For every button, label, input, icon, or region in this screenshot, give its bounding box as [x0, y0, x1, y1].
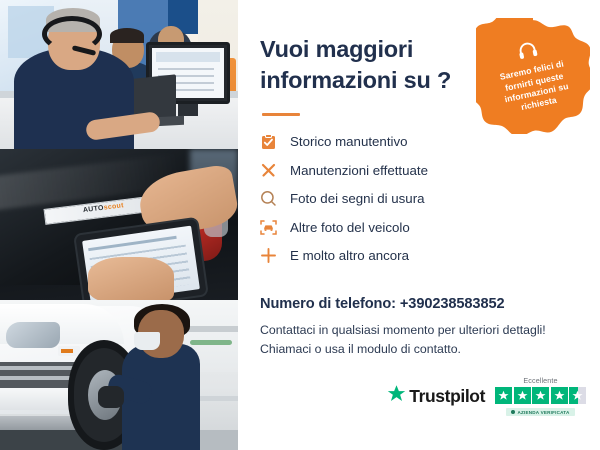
- list-item: Foto dei segni di usura: [260, 185, 576, 214]
- trustpilot-logo: Trustpilot: [387, 384, 485, 408]
- verified-check-icon: [511, 410, 515, 414]
- clipboard-check-icon: [260, 133, 277, 150]
- trustpilot-widget[interactable]: Trustpilot Eccellente AZIENDA VERIFICATA: [387, 376, 586, 416]
- feature-list: Storico manutentivo Manutenzioni effettu…: [260, 128, 576, 271]
- subtext-line-2: Chiamaci o usa il modulo di contatto.: [260, 340, 576, 359]
- trustpilot-star-icon: [387, 384, 406, 408]
- star-rating: [495, 387, 586, 404]
- call-center-photo: [0, 0, 238, 149]
- star-4: [551, 387, 568, 404]
- workshop-photo: [0, 300, 238, 450]
- star-2: [514, 387, 531, 404]
- trustpilot-rating: Eccellente AZIENDA VERIFICATA: [495, 376, 586, 416]
- page-title: Vuoi maggiori informazioni su ?: [260, 34, 470, 97]
- photo-column: AUTOscout: [0, 0, 238, 450]
- promo-card: AUTOscout Vuoi maggiori informazioni su …: [0, 0, 600, 450]
- wrench-cross-icon: [260, 162, 277, 179]
- star-5: [569, 387, 586, 404]
- list-item-label: Foto dei segni di usura: [290, 191, 425, 206]
- verified-label: AZIENDA VERIFICATA: [517, 410, 569, 415]
- callout-badge: Saremo felici di fornirti queste informa…: [476, 18, 590, 134]
- trustpilot-name: Trustpilot: [409, 386, 485, 407]
- title-divider: [262, 113, 300, 116]
- subtext-line-1: Contattaci in qualsiasi momento per ulte…: [260, 321, 576, 340]
- plus-icon: [260, 247, 277, 264]
- list-item: E molto altro ancora: [260, 242, 576, 271]
- list-item-label: Altre foto del veicolo: [290, 220, 410, 235]
- rating-label: Eccellente: [523, 376, 557, 385]
- list-item-label: Storico manutentivo: [290, 134, 408, 149]
- badge-text: Saremo felici di fornirti queste informa…: [492, 57, 580, 118]
- star-3: [532, 387, 549, 404]
- headset-icon: [516, 40, 540, 67]
- content-panel: Vuoi maggiori informazioni su ? Storico …: [238, 0, 600, 450]
- car-scan-icon: [260, 219, 277, 236]
- star-1: [495, 387, 512, 404]
- list-item: Manutenzioni effettuate: [260, 156, 576, 185]
- list-item-label: E molto altro ancora: [290, 248, 409, 263]
- magnifier-icon: [260, 190, 277, 207]
- phone-number[interactable]: Numero di telefono: +390238583852: [260, 296, 576, 312]
- car-inspection-photo: AUTOscout: [0, 149, 238, 300]
- verified-badge: AZIENDA VERIFICATA: [506, 408, 574, 416]
- list-item-label: Manutenzioni effettuate: [290, 163, 428, 178]
- list-item: Altre foto del veicolo: [260, 213, 576, 242]
